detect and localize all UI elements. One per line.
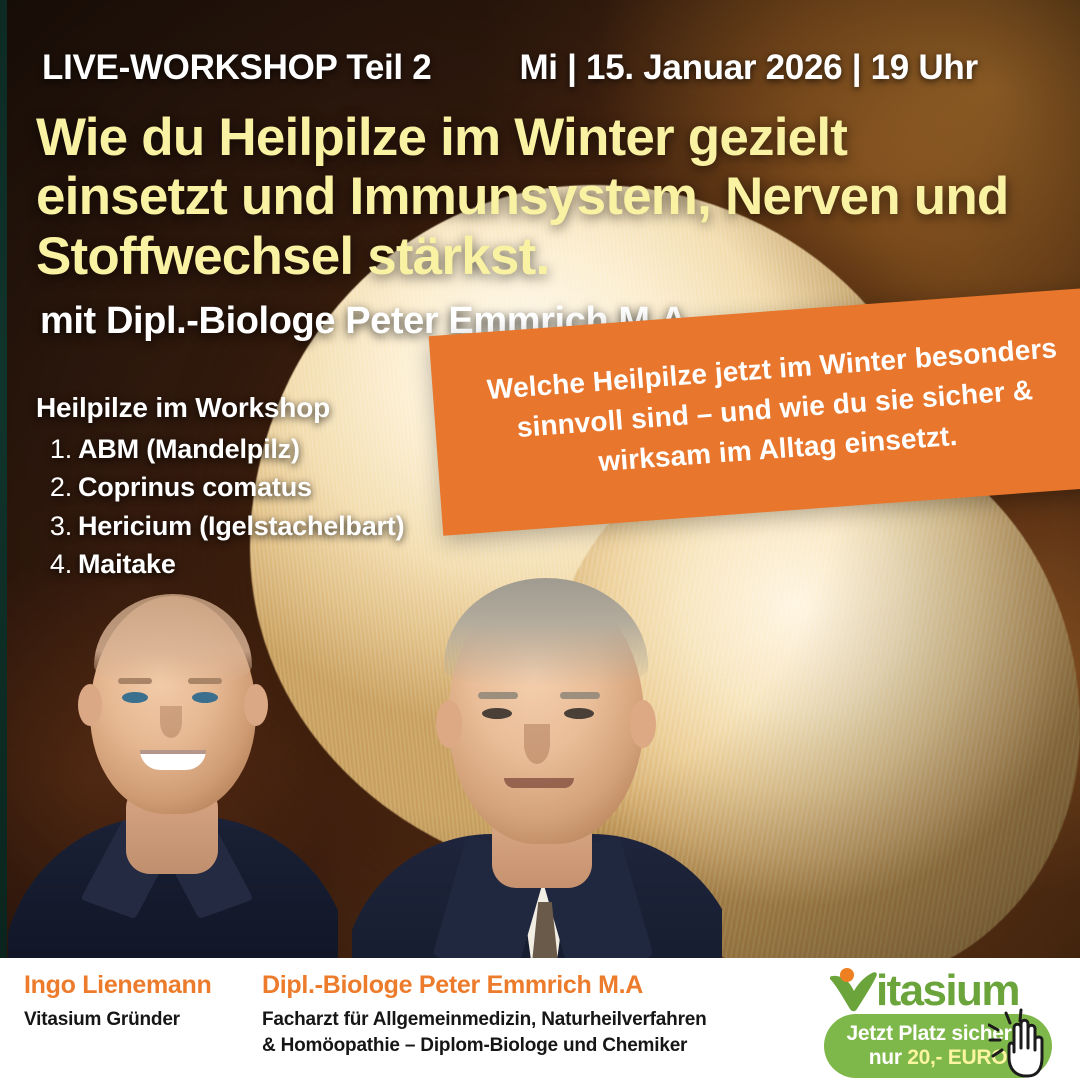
pointing-hand-cursor-icon — [988, 1006, 1070, 1080]
eye-left — [122, 692, 148, 703]
nose — [524, 724, 550, 764]
nose — [160, 706, 182, 738]
ear-left — [436, 700, 462, 748]
ear-right — [244, 684, 268, 726]
workshop-date: Mi | 15. Januar 2026 | 19 Uhr — [519, 48, 977, 88]
eyebrow-right — [188, 678, 222, 684]
ear-left — [78, 684, 102, 726]
cta-line-2: nur 20,- EURO — [869, 1046, 1007, 1070]
smile — [140, 750, 206, 770]
cta-price-prefix: nur — [869, 1046, 907, 1069]
person-2-role-line-2: & Homöopathie – Diplom-Biologe und Chemi… — [262, 1033, 792, 1060]
eye-right — [564, 708, 594, 719]
ear-right — [630, 700, 656, 748]
eye-right — [192, 692, 218, 703]
footer-person-1: Ingo Lienemann Vitasium Gründer — [24, 970, 256, 1033]
list-item-label: Hericium (Igelstachelbart) — [78, 507, 404, 545]
eyebrow-left — [478, 692, 518, 699]
person-2-name: Dipl.-Biologe Peter Emmrich M.A — [262, 970, 792, 1001]
list-item-number: 2. — [36, 468, 78, 506]
portrait-ingo-lienemann — [8, 556, 338, 958]
list-item-label: Coprinus comatus — [78, 468, 312, 506]
list-item-label: ABM (Mandelpilz) — [78, 430, 300, 468]
promo-poster: LIVE-WORKSHOP Teil 2 Mi | 15. Januar 202… — [0, 0, 1080, 1080]
headline-line-3: Stoffwechsel stärkst. — [36, 227, 1066, 286]
footer-person-2: Dipl.-Biologe Peter Emmrich M.A Facharzt… — [262, 970, 792, 1060]
headline-line-1: Wie du Heilpilze im Winter gezielt — [36, 108, 1066, 167]
person-2-role: Facharzt für Allgemeinmedizin, Naturheil… — [262, 1007, 792, 1061]
list-item: 2. Coprinus comatus — [36, 468, 506, 506]
hair — [444, 578, 648, 686]
person-1-name: Ingo Lienemann — [24, 970, 256, 1001]
brand-block: itasium Jetzt Platz sichern, nur 20,- EU… — [818, 964, 1068, 1076]
eye-left — [482, 708, 512, 719]
headline-line-2: einsetzt und Immunsystem, Nerven und — [36, 167, 1066, 226]
person-1-role: Vitasium Gründer — [24, 1007, 256, 1034]
eyebrow-right — [560, 692, 600, 699]
vitasium-check-leaf-icon — [826, 967, 882, 1015]
list-item-number: 1. — [36, 430, 78, 468]
left-edge-strip — [0, 0, 7, 958]
list-item-number: 3. — [36, 507, 78, 545]
footer-bar: Ingo Lienemann Vitasium Gründer Dipl.-Bi… — [0, 958, 1080, 1080]
workshop-kicker: LIVE-WORKSHOP Teil 2 — [42, 48, 431, 88]
highlight-banner-text: Welche Heilpilze jetzt im Winter besonde… — [465, 326, 1080, 491]
header-row: LIVE-WORKSHOP Teil 2 Mi | 15. Januar 202… — [42, 48, 1042, 88]
page-title: Wie du Heilpilze im Winter gezielt einse… — [36, 108, 1066, 286]
eyebrow-left — [118, 678, 152, 684]
list-item: 3. Hericium (Igelstachelbart) — [36, 507, 506, 545]
person-2-role-line-1: Facharzt für Allgemeinmedizin, Naturheil… — [262, 1007, 792, 1034]
mouth — [504, 778, 574, 788]
portrait-peter-emmrich — [352, 552, 722, 958]
scalp — [94, 594, 252, 686]
